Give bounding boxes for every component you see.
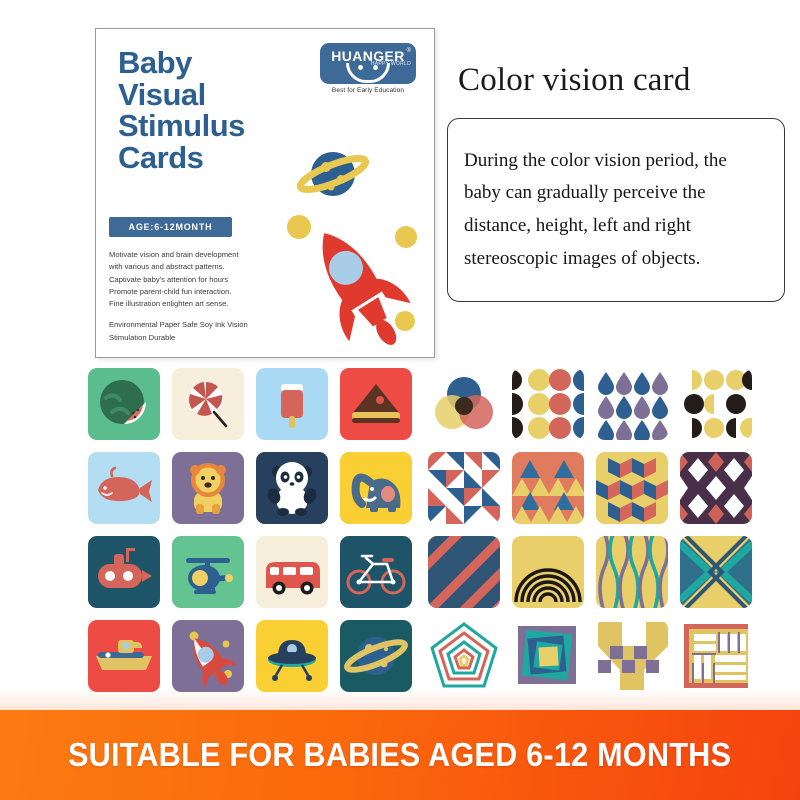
yellow-dot-2 — [395, 226, 417, 248]
description-box: During the color vision period, the baby… — [447, 118, 785, 302]
registered-mark-icon: ® — [407, 48, 411, 54]
yellow-dot-1 — [287, 215, 311, 239]
card-triangle-rows[interactable] — [512, 452, 584, 524]
age-range-badge: AGE:6-12MONTH — [109, 217, 232, 237]
card-isometric-cubes[interactable] — [596, 452, 668, 524]
card-wavy-lines[interactable] — [596, 536, 668, 608]
package-body-line-3: Captivate baby's attention for hours — [109, 274, 289, 286]
card-zigzag-blocks[interactable] — [596, 620, 668, 692]
package-body2-line-1: Environmental Paper Safe Soy Ink Vision — [109, 319, 289, 331]
card-nested-pentagons[interactable] — [428, 620, 500, 692]
package-art-svg — [286, 139, 435, 354]
package-title-line-1: Baby — [118, 47, 318, 79]
card-basket-weave[interactable] — [680, 620, 752, 692]
product-infographic: Baby Visual Stimulus Cards HUANGER ® HAP… — [0, 0, 800, 800]
product-package-mockup: Baby Visual Stimulus Cards HUANGER ® HAP… — [95, 28, 435, 358]
card-submarine[interactable] — [88, 536, 160, 608]
card-x-cross[interactable] — [680, 536, 752, 608]
card-ufo[interactable] — [256, 620, 328, 692]
card-concentric-arcs[interactable] — [512, 536, 584, 608]
package-body-copy: Motivate vision and brain development wi… — [109, 249, 289, 344]
smiley-eye-right-icon — [373, 65, 378, 70]
card-half-circle-grid[interactable] — [680, 368, 752, 440]
package-body2-line-2: Stimulation Durable — [109, 332, 289, 344]
banner-text: SUITABLE FOR BABIES AGED 6-12 MONTHS — [68, 736, 731, 774]
package-body-line-5: Fine illustration enlighten art sense. — [109, 298, 289, 310]
card-bicycle[interactable] — [340, 536, 412, 608]
banner-glow — [0, 690, 800, 712]
brand-logo: HUANGER ® HAPPY WORLD Best for Early Edu… — [320, 43, 416, 87]
planet-icon — [297, 152, 369, 196]
card-diagonal-stripes[interactable] — [428, 536, 500, 608]
card-whale[interactable] — [88, 452, 160, 524]
card-bus[interactable] — [256, 536, 328, 608]
card-watermelon[interactable] — [88, 368, 160, 440]
package-title-line-3: Stimulus — [118, 110, 318, 142]
card-panda[interactable] — [256, 452, 328, 524]
package-body-line-1: Motivate vision and brain development — [109, 249, 289, 261]
card-lion[interactable] — [172, 452, 244, 524]
logo-tagline: Best for Early Education — [320, 87, 416, 94]
smiley-eye-left-icon — [358, 65, 363, 70]
bottom-banner: SUITABLE FOR BABIES AGED 6-12 MONTHS — [0, 710, 800, 800]
card-planet[interactable] — [340, 620, 412, 692]
pattern-card-grid — [428, 368, 752, 692]
package-artwork — [286, 139, 435, 354]
card-elephant[interactable] — [340, 452, 412, 524]
card-boat[interactable] — [88, 620, 160, 692]
package-body-line-2: with various and abstract patterns. — [109, 261, 289, 273]
card-cake-slice[interactable] — [340, 368, 412, 440]
card-venn-circles[interactable] — [428, 368, 500, 440]
card-popsicle[interactable] — [256, 368, 328, 440]
card-pinwheel-triangles[interactable] — [428, 452, 500, 524]
card-circle-grid[interactable] — [512, 368, 584, 440]
card-teardrop-grid[interactable] — [596, 368, 668, 440]
picture-card-grid — [88, 368, 412, 692]
package-body-line-4: Promote parent-child fun interaction. — [109, 286, 289, 298]
card-diamond-lattice[interactable] — [680, 452, 752, 524]
page-title: Color vision card — [458, 62, 691, 99]
card-helicopter[interactable] — [172, 536, 244, 608]
yellow-dot-3 — [395, 311, 415, 331]
card-rocket[interactable] — [172, 620, 244, 692]
card-nested-squares[interactable] — [512, 620, 584, 692]
description-text: During the color vision period, the baby… — [448, 145, 784, 276]
card-lollipop[interactable] — [172, 368, 244, 440]
package-title-line-2: Visual — [118, 79, 318, 111]
